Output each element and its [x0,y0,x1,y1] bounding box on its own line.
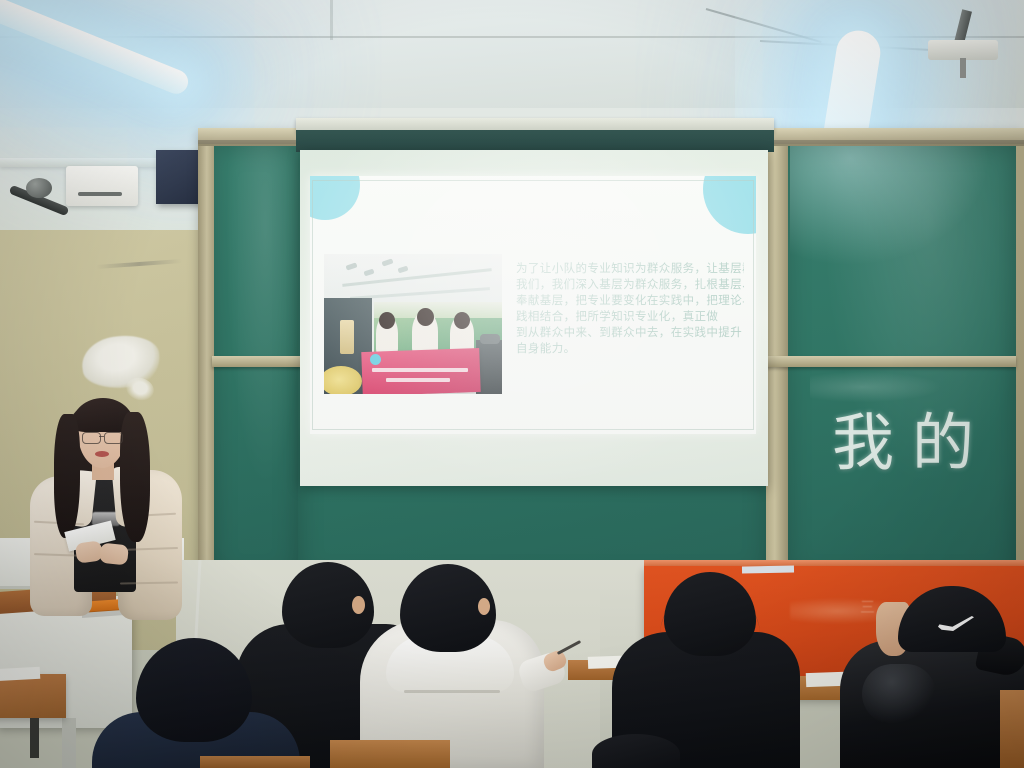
presenter-hand-right [99,543,129,566]
student-b-ear [352,596,365,614]
projector-bracket-plate [928,40,998,60]
slide-text-line: 为了让小队的专业知识为群众服务，让基层群众了解 [516,260,744,276]
slide-text-line: 到从群众中来、到群众中去，在实践中提升 [516,324,744,340]
photo-person-head [454,312,470,329]
presenter-hair-right [120,412,150,542]
chair-back-right [1000,690,1024,768]
slide-text-line: 践相结合，把所学知识专业化，真正做 [516,308,744,324]
slide-text-line: 奉献基层，把专业要变化在实践中，把理论与实 [516,292,744,308]
photo-door-glass [340,320,354,354]
chalkboard-written-text: 我的 [832,392,992,482]
slide-decor-circle-top-left [310,176,360,220]
photo-person-head [417,308,434,326]
glasses-icon-right-lens [104,432,123,444]
camera-mount-head [26,178,52,198]
photo-banner-logo-icon [370,354,381,365]
photo-banner-text-line [372,368,468,372]
presenter-lips [95,451,109,457]
photo-decor-wreath [324,366,362,394]
presenter-hair-left [54,414,80,538]
front-desk-leg [30,718,39,758]
photo-equipment-top [480,334,500,344]
paper-slip-on-ledge [742,566,794,574]
ac-unit-vent [78,192,122,196]
slide-text-line: 我们，我们深入基层为群众服务，扎根基层、服务基层、 [516,276,744,292]
slide-body-text: 为了让小队的专业知识为群众服务，让基层群众了解 我们，我们深入基层为群众服务，扎… [516,260,744,356]
projector-bracket-stem [960,58,966,78]
front-desk [0,674,66,718]
glasses-icon-left-lens [82,432,101,444]
student-c-hood-seam [404,690,500,693]
chair-back-left [200,756,310,768]
presentation-slide: 为了让小队的专业知识为群众服务，让基层群众了解 我们，我们深入基层为群众服务，扎… [310,176,756,434]
ceiling-seam-vertical [330,0,333,40]
photo-banner-text-line [386,378,450,382]
classroom-scene: 我的 [0,0,1024,768]
ac-unit [66,166,138,206]
projector-screen-top-band [296,130,774,152]
slide-photo [324,254,502,394]
student-f-head [592,734,680,768]
photo-person-head [379,312,395,329]
presenter [16,396,176,626]
paper-on-front-desk [0,667,40,681]
chair-back-center [330,740,450,768]
slide-text-line: 自身能力。 [516,340,744,356]
student-e-jacket-sheen [862,664,936,724]
student-c-ear [478,598,490,615]
slide-decor-circle-top-right [703,176,756,234]
podium-leg [62,718,76,768]
glasses-icon-bridge [99,436,104,437]
